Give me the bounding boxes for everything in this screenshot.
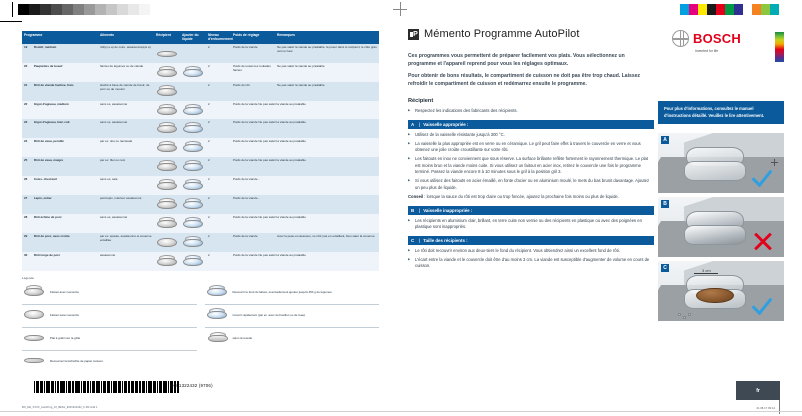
bosch-tagline: Invented for life	[695, 49, 784, 53]
table-row: 28 Rôti échine de porcsans os, assaisonn…	[22, 214, 379, 233]
add-liquid-icon	[182, 141, 204, 153]
cell-niveau: 2	[206, 233, 231, 252]
legend-label: selon la recette	[233, 337, 253, 341]
program-table-body: 19 Rosbif, médiumrôti(s) e.a) de cuire, …	[22, 44, 379, 271]
liquid-pot-cover-icon	[206, 308, 228, 320]
th-remarques: Remarques	[275, 31, 379, 44]
cell-aliments: par ex. filet ou noix	[98, 157, 154, 176]
legend-label: Plat à gratin sur la grille	[50, 337, 80, 341]
program-name: Rôti de veau, persillé	[34, 139, 64, 143]
barcode	[34, 381, 180, 393]
program-name: Lapin, entier	[34, 196, 52, 200]
table-row: 30 Rôti longe de porcassaisonné2Poids de…	[22, 252, 379, 271]
language-tab[interactable]: fr	[736, 381, 780, 400]
dimension-line	[694, 273, 718, 274]
cell-poids: Poids de la viande	[231, 44, 275, 63]
p-badge-letter: P	[413, 31, 418, 38]
cell-ajouter-liquide	[180, 138, 206, 157]
cell-programme: 29 Rôti de porc, avec croûte	[22, 233, 98, 252]
cell-aliments: par ex. dos ou ramsteak	[98, 138, 154, 157]
dish-base	[684, 225, 746, 245]
cell-niveau: 2	[206, 44, 231, 63]
legend-item: Faitout sans couvercle	[22, 305, 197, 328]
cell-aliments: sans os, salé	[98, 176, 154, 195]
add-liquid-icon	[182, 104, 204, 116]
page-title: Mémento Programme AutoPilot	[424, 28, 580, 40]
legend-icon	[205, 307, 229, 325]
section-band-c: C|Taille des récipients :	[408, 236, 654, 245]
cell-ajouter-liquide	[180, 63, 206, 82]
tip-label: Conseil	[408, 194, 423, 199]
cell-aliments: sans os, assaisonné	[98, 119, 154, 138]
bullet-item: Les faitouts en inox ne conviennent que …	[408, 156, 654, 176]
cell-recipient	[154, 252, 180, 271]
table-header-row: Programme Aliments Récipient Ajouter du …	[22, 31, 379, 44]
bullet-item: Utilisez de la vaisselle résistante jusq…	[408, 132, 654, 139]
section-letter: A	[411, 122, 416, 127]
cell-programme: 25 Rôti de veau, maigre	[22, 157, 98, 176]
legend-title: Légende	[22, 276, 379, 280]
table-row: 29 Rôti de porc, avec croûtepar ex. épau…	[22, 233, 379, 252]
table-row: 26 Cuiss. chevreuilsans os, salé2Poids d…	[22, 176, 379, 195]
cell-remarques: Ne pas saisir la viande au préalable	[275, 63, 379, 82]
cell-remarques: Ne pas saisir la viande au préalable, la…	[275, 44, 379, 63]
barcode-number: 9001322432 (9706)	[171, 383, 213, 388]
program-name: Gigot d'agneau, bien cuit	[34, 120, 70, 124]
cell-programme: 20 Paupiettes de boeuf	[22, 63, 98, 82]
cell-poids: Poids de la viande	[231, 233, 275, 252]
legend-block: Légende Faitout avec couvercleFaitout sa…	[22, 276, 379, 373]
cell-niveau: 2	[206, 157, 231, 176]
program-index: 28	[24, 216, 33, 220]
cell-recipient	[154, 195, 180, 214]
legend-icon	[22, 307, 46, 325]
bullet-item: Si vous utilisez des faitouts en acier é…	[408, 178, 654, 191]
section-title: Vaisselle appropriée :	[423, 122, 468, 127]
page-root: Programme Aliments Récipient Ajouter du …	[0, 0, 802, 416]
cell-ajouter-liquide	[180, 101, 206, 120]
legend-column-right: Recouvrir le fond du faitout, éventuelle…	[205, 282, 380, 373]
cell-aliments: Haché à base de viande de bœuf, de porc …	[98, 82, 154, 101]
bullet-item: Respectez les indications des fabricants…	[408, 108, 654, 115]
section-title: Vaisselle inappropriée :	[423, 208, 472, 213]
cell-ajouter-liquide	[180, 252, 206, 271]
cell-remarques: Avec la peau en-dessous, ne rôtir pas en…	[275, 233, 379, 252]
bullet-item: Le rôti doit recouvrir environ aux deux-…	[408, 248, 654, 255]
section-title: Taille des récipients :	[423, 238, 467, 243]
program-table: Programme Aliments Récipient Ajouter du …	[22, 31, 379, 271]
program-index: 27	[24, 197, 33, 201]
add-liquid-icon	[182, 66, 204, 78]
registration-underline	[0, 21, 22, 22]
bosch-wordmark: BOSCH	[693, 32, 741, 45]
info-box: Pour plus d'informations, consultez le m…	[658, 101, 784, 124]
cell-recipient	[154, 44, 180, 63]
recipient-heading: Récipient	[408, 98, 654, 104]
pot-with-lid-icon	[156, 217, 178, 229]
legend-icon	[22, 330, 46, 348]
legend-item: Faitout avec couvercle	[22, 282, 197, 305]
cell-niveau: 2	[206, 101, 231, 120]
cell-programme: 27 Lapin, entier	[22, 195, 98, 214]
legend-label: Couvrir rapidement (par ex. avec du boui…	[233, 314, 306, 318]
cell-aliments: assaisonné	[98, 252, 154, 271]
footer-filename: BO_DE_XXXX_AutoProg_10_BENL_9001322432_f…	[22, 406, 98, 409]
bullet-item: Les récipients en aluminium clair, brill…	[408, 218, 654, 231]
th-niveau-enfournement: Niveau d'enfournement	[206, 31, 231, 44]
legend-icon	[22, 284, 46, 302]
cell-poids: Poids du rôti	[231, 82, 275, 101]
cell-poids-remarques: Poids de la viande Ne pas saisir la vian…	[231, 214, 379, 233]
bullet-item: La vaisselle la plus appropriée est en v…	[408, 141, 654, 154]
cell-ajouter-liquide	[180, 44, 206, 63]
print-color-bars	[680, 4, 788, 15]
illustration-stack: A B	[658, 133, 784, 321]
dish-base	[684, 161, 746, 181]
cell-poids-remarques: Poids de la viande -	[231, 176, 379, 195]
cell-aliments: rôti(s) e.a) de cuire, assaisonné(e)s a)	[98, 44, 154, 63]
cell-ajouter-liquide	[180, 214, 206, 233]
cell-aliments: petit lapin, intérieur assaisonné	[98, 195, 154, 214]
cell-aliments: sans os, assaisonné	[98, 101, 154, 120]
cell-niveau: 2	[206, 176, 231, 195]
cell-niveau: 2	[206, 214, 231, 233]
program-name: Gigot d'agneau, médium	[34, 102, 69, 106]
bullet-item: L'écart entre la viande et le couvercle …	[408, 257, 654, 270]
intro-paragraph-2: Pour obtenir de bons résultats, le compa…	[408, 72, 654, 89]
program-index: 23	[24, 121, 33, 125]
document-title-row: P Mémento Programme AutoPilot	[408, 28, 654, 40]
cell-ajouter-liquide	[180, 176, 206, 195]
color-spectrum-bar	[775, 32, 784, 62]
legend-label: Recouvrez la lèchefrite de papier cuisso…	[50, 360, 104, 364]
legend-item: Recouvrir le fond du faitout, éventuelle…	[205, 282, 380, 305]
cell-niveau: 2	[206, 82, 231, 101]
cell-poids-remarques: Poids de la viande Ne pas saisir la vian…	[231, 157, 379, 176]
section-letter: C	[411, 238, 416, 243]
legend-item: Recouvrez la lèchefrite de papier cuisso…	[22, 351, 197, 373]
pot-with-lid-icon	[156, 66, 178, 78]
crop-mark-top	[393, 2, 407, 16]
pot-with-lid-icon	[156, 85, 178, 97]
bosch-anchor-icon	[672, 30, 689, 47]
roast-meat-icon	[696, 288, 734, 303]
cell-recipient	[154, 176, 180, 195]
section-bullets-b: Les récipients en aluminium clair, brill…	[408, 218, 654, 231]
program-name: Rôti de viande hachée, frais	[34, 83, 74, 87]
illus-a-tag: A	[661, 136, 669, 144]
cell-ajouter-liquide	[180, 233, 206, 252]
gratin-dish-icon	[156, 47, 178, 59]
dimension-label: 3 cm	[702, 268, 711, 273]
table-row: 20 Paupiettes de boeuffarcies de légumes…	[22, 63, 379, 82]
cell-programme: 26 Cuiss. chevreuil	[22, 176, 98, 195]
section-bullets-a: Utilisez de la vaisselle résistante jusq…	[408, 132, 654, 192]
cell-poids-remarques: Poids de la viande Ne pas saisir la vian…	[231, 252, 379, 271]
metal-pot-icon	[684, 211, 746, 245]
cell-ajouter-liquide	[180, 82, 206, 101]
section-band-a: A|Vaisselle appropriée :	[408, 120, 654, 129]
cell-ajouter-liquide	[180, 195, 206, 214]
cell-remarques: Ne pas saisir la viande au préalable	[275, 82, 379, 101]
pot-with-lid-icon	[156, 198, 178, 210]
table-row: 21 Rôti de viande hachée, fraisHaché à b…	[22, 82, 379, 101]
pot-with-lid-icon	[156, 179, 178, 191]
program-name: Rôti longe de porc	[34, 253, 60, 257]
cell-aliments: par ex. épaule, assaisonné et couenne en…	[98, 233, 154, 252]
table-row: 22 Gigot d'agneau, médiumsans os, assais…	[22, 101, 379, 120]
legend-icon	[205, 330, 229, 348]
bosch-logo: BOSCH	[672, 30, 784, 47]
brand-column: BOSCH Invented for life Pour plus d'info…	[658, 30, 784, 325]
cell-poids-remarques: Poids de la viande Ne pas saisir la vian…	[231, 138, 379, 157]
add-liquid-icon	[182, 217, 204, 229]
program-index: 30	[24, 254, 33, 258]
cell-programme: 28 Rôti échine de porc	[22, 214, 98, 233]
cell-poids-remarques: Poids de la viande Ne pas saisir la vian…	[231, 119, 379, 138]
baking-tray-paper-icon	[23, 354, 45, 366]
cell-recipient	[154, 82, 180, 101]
cell-poids-remarques: Poids de la viande Ne pas saisir la vian…	[231, 101, 379, 120]
cross-icon	[754, 233, 772, 250]
pot-without-lid-icon	[23, 308, 45, 320]
cell-recipient	[154, 233, 180, 252]
add-liquid-icon	[182, 122, 204, 134]
cell-programme: 19 Rosbif, médium	[22, 44, 98, 63]
legend-item: Couvrir rapidement (par ex. avec du boui…	[205, 305, 380, 328]
cell-aliments: farcies de légumes ou de viande	[98, 63, 154, 82]
section-band-b: B|Vaisselle inappropriée :	[408, 206, 654, 215]
cell-niveau: 2	[206, 119, 231, 138]
program-name: Rosbif, médium	[34, 45, 57, 49]
legend-icon	[205, 284, 229, 302]
pot-with-lid-icon	[156, 104, 178, 116]
cell-niveau: 2	[206, 195, 231, 214]
cell-recipient	[154, 101, 180, 120]
legend-icon	[22, 353, 46, 371]
pot-with-lid-icon	[156, 160, 178, 172]
program-name: Rôti échine de porc	[34, 215, 62, 219]
program-index: 25	[24, 159, 33, 163]
program-index: 20	[24, 65, 33, 69]
illustration-a: A	[658, 133, 784, 193]
illustration-c: C 3 cm	[658, 261, 784, 321]
cell-niveau: 2	[206, 252, 231, 271]
cell-programme: 30 Rôti longe de porc	[22, 252, 98, 271]
pot-without-lid-icon	[156, 236, 178, 248]
intro-paragraph-1: Ces programmes vous permettent de prépar…	[408, 52, 654, 69]
cell-programme: 21 Rôti de viande hachée, frais	[22, 82, 98, 101]
junction-mark-icon	[771, 159, 778, 166]
table-row: 25 Rôti de veau, maigrepar ex. filet ou …	[22, 157, 379, 176]
program-name: Rôti de veau, maigre	[34, 158, 63, 162]
section-separator: |	[419, 238, 420, 243]
table-row: 27 Lapin, entierpetit lapin, intérieur a…	[22, 195, 379, 214]
footer-timestamp: 21.08.17 09:14	[756, 406, 775, 410]
crop-mark-bottom-right	[779, 400, 780, 414]
legend-item: selon la recette	[205, 328, 380, 350]
content-column: P Mémento Programme AutoPilot Ces progra…	[408, 28, 654, 272]
section-bullets-c: Le rôti doit recouvrir environ aux deux-…	[408, 248, 654, 270]
program-index: 26	[24, 178, 33, 182]
section-letter: B	[411, 208, 416, 213]
footer-divider	[0, 411, 802, 412]
legend-label: Faitout avec couvercle	[50, 291, 79, 295]
legend-label: Recouvrir le fond du faitout, éventuelle…	[233, 291, 333, 295]
cell-poids-remarques: Poids de la viande -	[231, 195, 379, 214]
book-icon	[207, 332, 227, 343]
cell-aliments: sans os, assaisonné	[98, 214, 154, 233]
autopilot-p-icon: P	[408, 29, 419, 40]
add-liquid-icon	[182, 236, 204, 248]
section-separator: |	[419, 122, 420, 127]
pot-with-lid-icon	[23, 285, 45, 297]
add-liquid-icon	[182, 198, 204, 210]
program-name: Rôti de porc, avec croûte	[34, 234, 70, 238]
pot-with-lid-icon	[156, 141, 178, 153]
cell-programme: 23 Gigot d'agneau, bien cuit	[22, 119, 98, 138]
cell-programme: 24 Rôti de veau, persillé	[22, 138, 98, 157]
gratin-dish-on-rack-icon	[23, 331, 45, 343]
glass-dish-icon	[684, 147, 746, 181]
check-icon	[752, 170, 772, 187]
program-table-container: Programme Aliments Récipient Ajouter du …	[22, 31, 379, 271]
tip-text: Conseil : lorsque la sauce du rôti est t…	[408, 194, 654, 201]
th-ajouter-liquide: Ajouter du liquide	[180, 31, 206, 44]
cell-ajouter-liquide	[180, 119, 206, 138]
th-aliments: Aliments	[98, 31, 154, 44]
program-index: 29	[24, 235, 33, 239]
cell-poids: Poids de toutes les roulades farcies	[231, 63, 275, 82]
program-name: Paupiettes de boeuf	[34, 64, 63, 68]
table-row: 24 Rôti de veau, persillépar ex. dos ou …	[22, 138, 379, 157]
intro-text: Ces programmes vous permettent de prépar…	[408, 52, 654, 88]
cell-niveau: 2	[206, 63, 231, 82]
cell-niveau: 2	[206, 138, 231, 157]
legend-label: Faitout sans couvercle	[50, 314, 79, 318]
cell-recipient	[154, 138, 180, 157]
cell-programme: 22 Gigot d'agneau, médium	[22, 101, 98, 120]
pot-with-lid-icon	[156, 255, 178, 267]
program-name: Cuiss. chevreuil	[34, 177, 57, 181]
cell-recipient	[154, 157, 180, 176]
th-recipient: Récipient	[154, 31, 180, 44]
liquid-pot-icon	[206, 285, 228, 297]
cell-recipient	[154, 63, 180, 82]
glass-dish-with-meat-icon	[684, 275, 746, 309]
add-liquid-icon	[182, 255, 204, 267]
print-registration-bars	[18, 4, 150, 15]
legend-item: Plat à gratin sur la grille	[22, 328, 197, 351]
recipient-sections: A|Vaisselle appropriée :Utilisez de la v…	[408, 120, 654, 270]
check-icon	[752, 298, 772, 315]
th-programme: Programme	[22, 31, 98, 44]
program-index: 21	[24, 84, 33, 88]
illus-b-tag: B	[661, 200, 669, 208]
program-index: 22	[24, 103, 33, 107]
cell-recipient	[154, 214, 180, 233]
add-liquid-icon	[182, 179, 204, 191]
table-row: 19 Rosbif, médiumrôti(s) e.a) de cuire, …	[22, 44, 379, 63]
section-separator: |	[419, 208, 420, 213]
registration-line-left	[12, 2, 13, 17]
illus-c-tag: C	[661, 264, 669, 272]
cell-ajouter-liquide	[180, 157, 206, 176]
program-index: 19	[24, 46, 33, 50]
th-poids-reglage: Poids de réglage	[231, 31, 275, 44]
table-row: 23 Gigot d'agneau, bien cuitsans os, ass…	[22, 119, 379, 138]
add-liquid-icon	[182, 160, 204, 172]
program-index: 24	[24, 140, 33, 144]
illustration-b: B	[658, 197, 784, 257]
cell-recipient	[154, 119, 180, 138]
recipient-lead-bullets: Respectez les indications des fabricants…	[408, 108, 654, 115]
legend-column-left: Faitout avec couvercleFaitout sans couve…	[22, 282, 197, 373]
pot-with-lid-icon	[156, 122, 178, 134]
